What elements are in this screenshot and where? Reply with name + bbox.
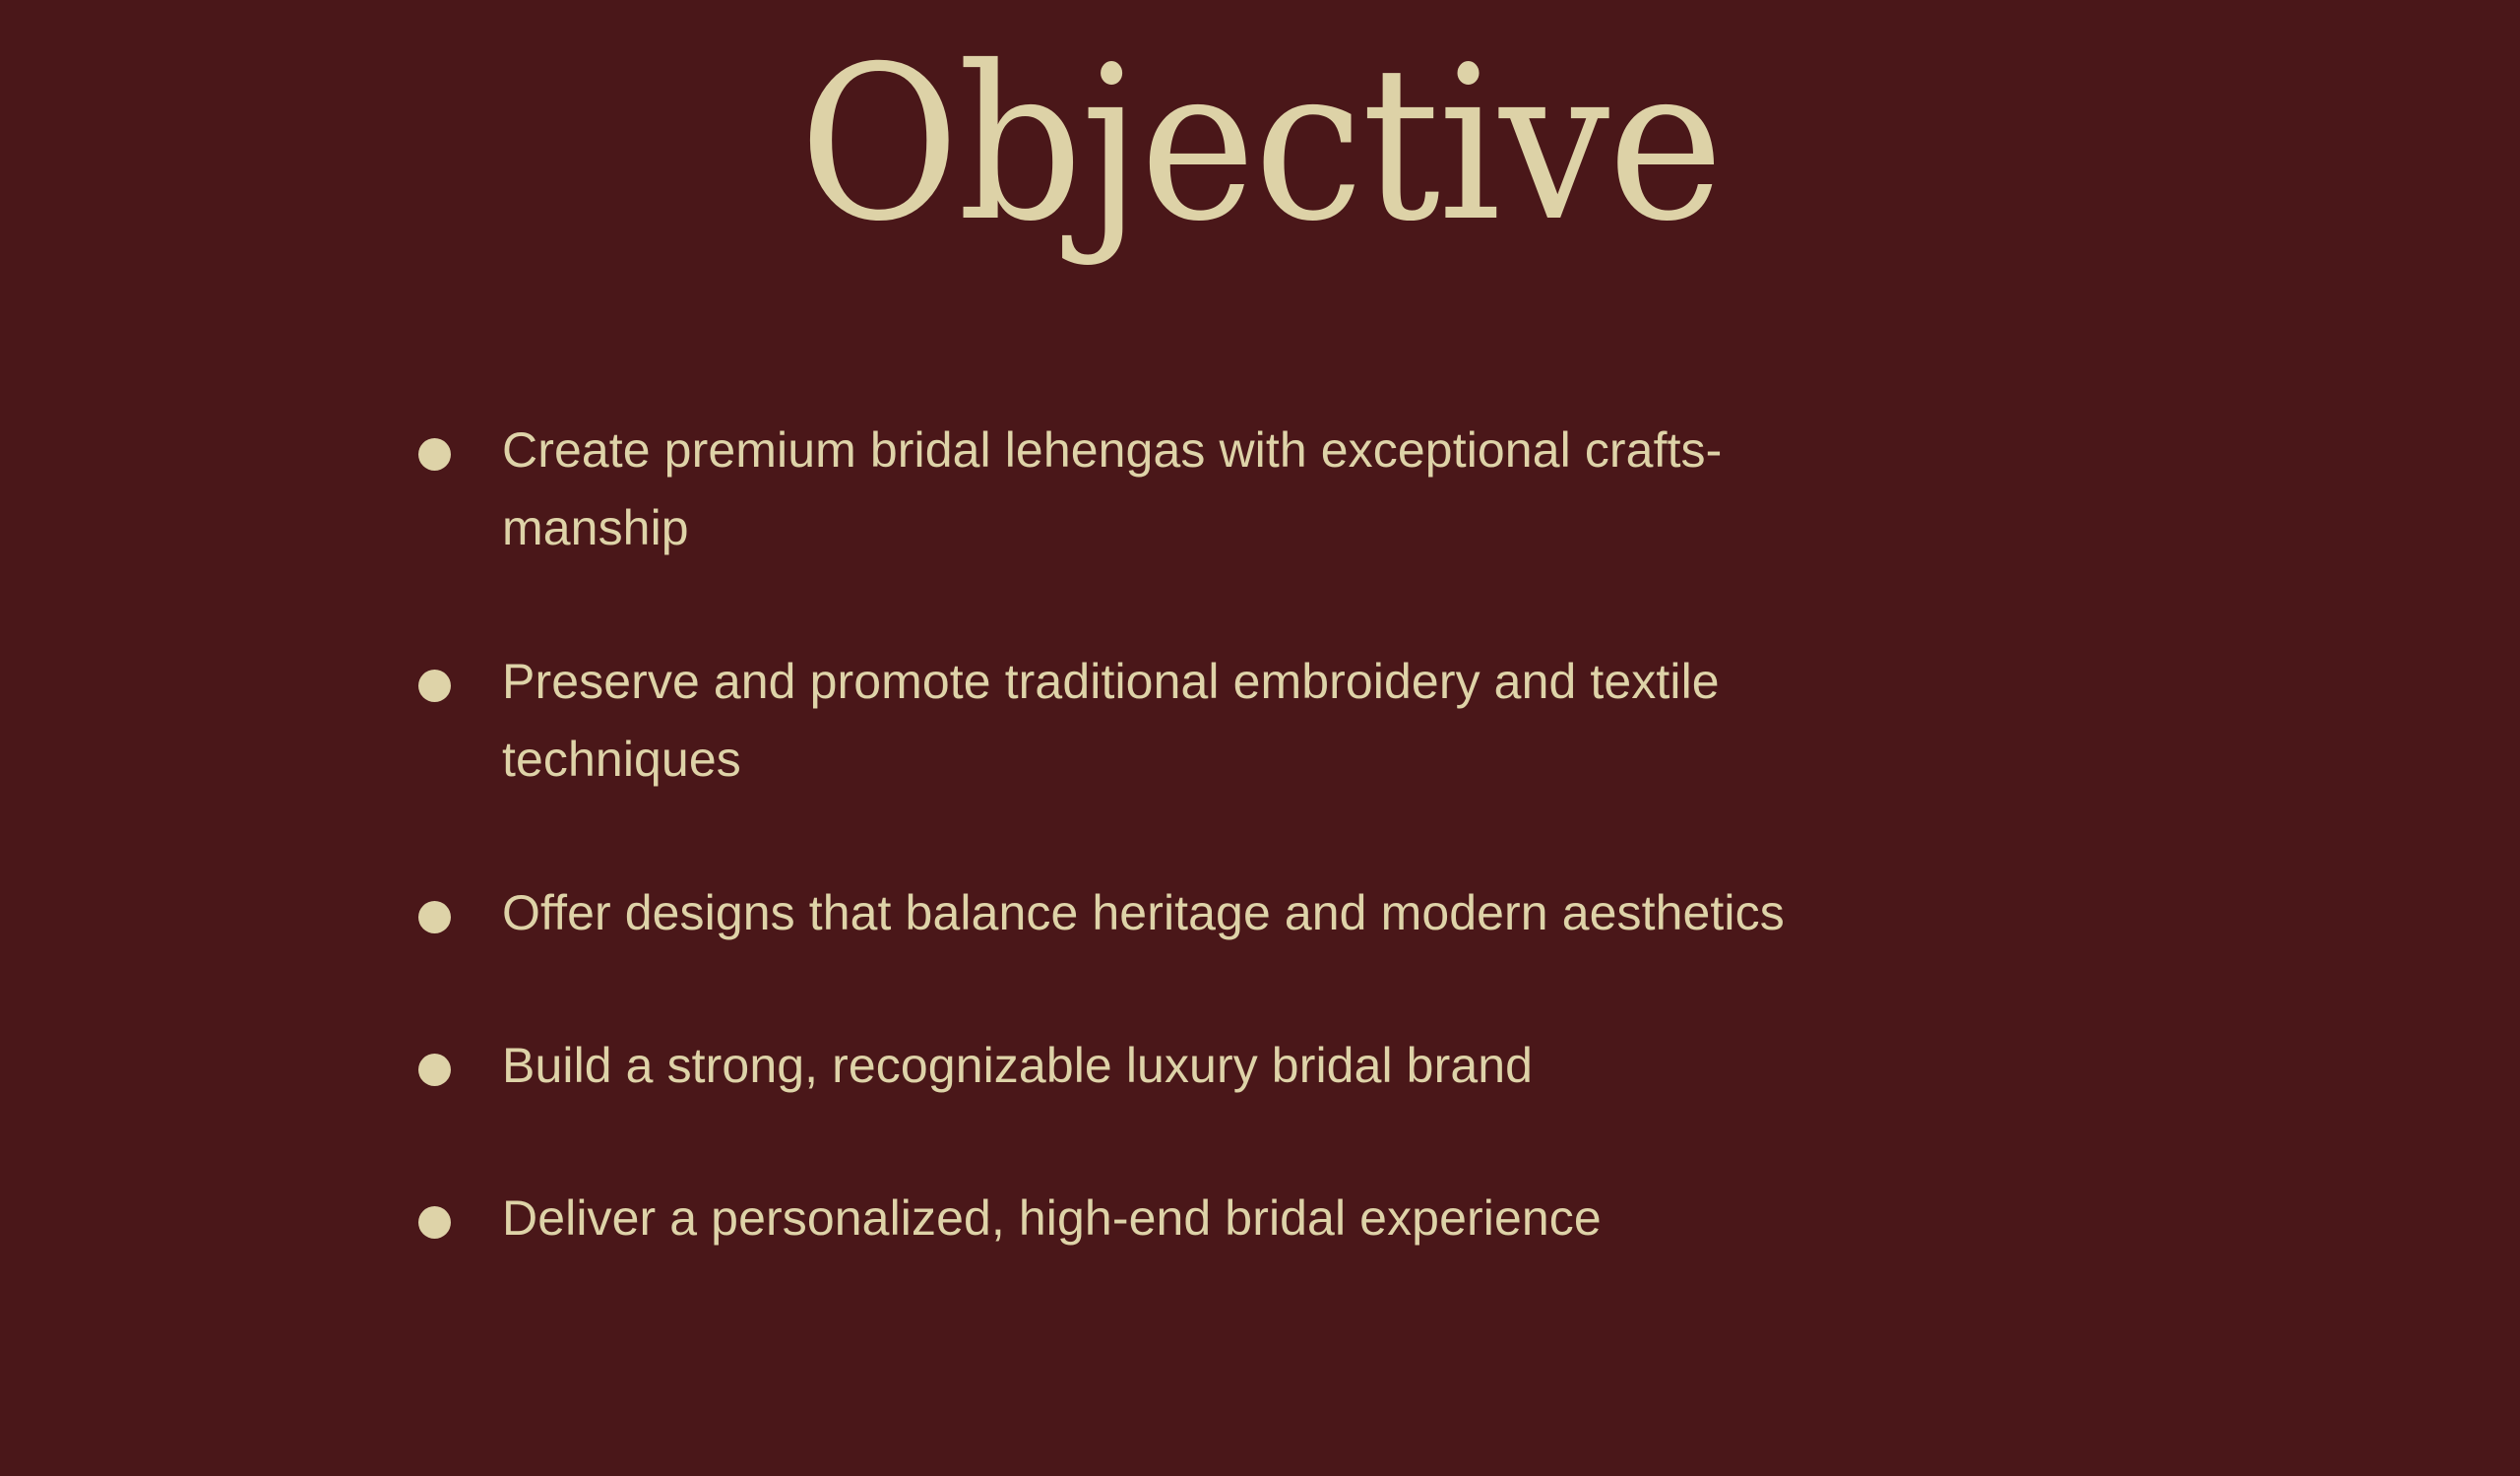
list-item: Preserve and promote traditional embroid… <box>418 643 2087 799</box>
page-title: Objective <box>798 33 1721 257</box>
slide-canvas: Objective Create premium bridal lehengas… <box>0 0 2520 1476</box>
bullet-dot-icon <box>418 1206 451 1239</box>
list-item-line: manship <box>502 500 689 555</box>
bullet-dot-icon <box>418 670 451 702</box>
list-item-text: Build a strong, recognizable luxury brid… <box>502 1027 2087 1105</box>
bullet-dot-icon <box>418 901 451 933</box>
list-item-text: Create premium bridal lehengas with exce… <box>502 412 2087 567</box>
bullet-dot-icon <box>418 438 451 471</box>
list-item: Create premium bridal lehengas with exce… <box>418 412 2087 567</box>
list-item-text: Deliver a personalized, high-end bridal … <box>502 1180 2087 1257</box>
list-item: Build a strong, recognizable luxury brid… <box>418 1027 2087 1105</box>
list-item: Deliver a personalized, high-end bridal … <box>418 1180 2087 1257</box>
list-item-line: techniques <box>502 732 741 787</box>
slide-title-container: Objective <box>0 33 2520 257</box>
list-item-line: Create premium bridal lehengas with exce… <box>502 422 1722 478</box>
list-item-text: Offer designs that balance heritage and … <box>502 874 2087 952</box>
list-item: Offer designs that balance heritage and … <box>418 874 2087 952</box>
list-item-text: Preserve and promote traditional embroid… <box>502 643 2087 799</box>
objective-bullet-list: Create premium bridal lehengas with exce… <box>418 412 2087 1257</box>
list-item-line: Preserve and promote traditional embroid… <box>502 654 1720 709</box>
bullet-dot-icon <box>418 1054 451 1086</box>
